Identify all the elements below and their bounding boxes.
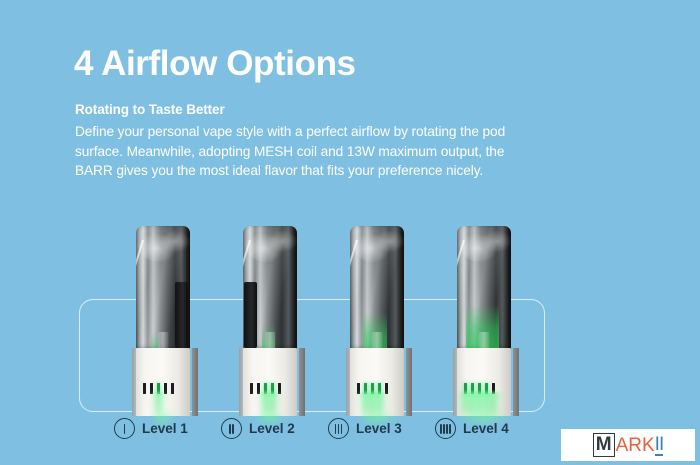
level-stroke [335, 424, 337, 434]
level-stroke [440, 424, 442, 434]
airflow-level-2-icon [221, 418, 242, 439]
level-stroke [446, 424, 448, 434]
watermark-mid-text: ARK [616, 436, 655, 455]
pod-level-1 [132, 226, 194, 416]
watermark-boxed-letter: M [593, 433, 615, 457]
pod-level-4 [453, 226, 515, 416]
watermark-end-text: II [655, 435, 664, 456]
device-base-edge [299, 348, 305, 416]
legend-item-level-3: Level 3 [328, 418, 402, 439]
airflow-level-4-icon [435, 418, 456, 439]
level-stroke [229, 424, 231, 434]
level-stroke [232, 424, 234, 434]
watermark-logo: M ARK II [593, 433, 663, 457]
pod-row [0, 0, 700, 465]
level-stroke [341, 424, 343, 434]
level-stroke [443, 424, 445, 434]
legend-label-level-3: Level 3 [356, 421, 402, 436]
airflow-level-3-icon [328, 418, 349, 439]
device-base-edge [192, 348, 198, 416]
pod-level-3 [346, 226, 408, 416]
promo-graphic: 4 Airflow Options Rotating to Taste Bett… [0, 0, 700, 465]
level-stroke [338, 424, 340, 434]
device-base-edge [406, 348, 412, 416]
legend-label-level-1: Level 1 [142, 421, 188, 436]
legend-label-level-4: Level 4 [463, 421, 509, 436]
pod-sidewall [175, 282, 188, 348]
markii-watermark: M ARK II [561, 429, 695, 461]
legend-item-level-4: Level 4 [435, 418, 509, 439]
level-stroke [124, 424, 126, 434]
legend-item-level-1: Level 1 [114, 418, 188, 439]
pod-sidewall [244, 282, 257, 348]
device-base-edge [513, 348, 519, 416]
airflow-level-1-icon [114, 418, 135, 439]
level-stroke [449, 424, 451, 434]
pod-level-2 [239, 226, 301, 416]
legend-item-level-2: Level 2 [221, 418, 295, 439]
legend-label-level-2: Level 2 [249, 421, 295, 436]
